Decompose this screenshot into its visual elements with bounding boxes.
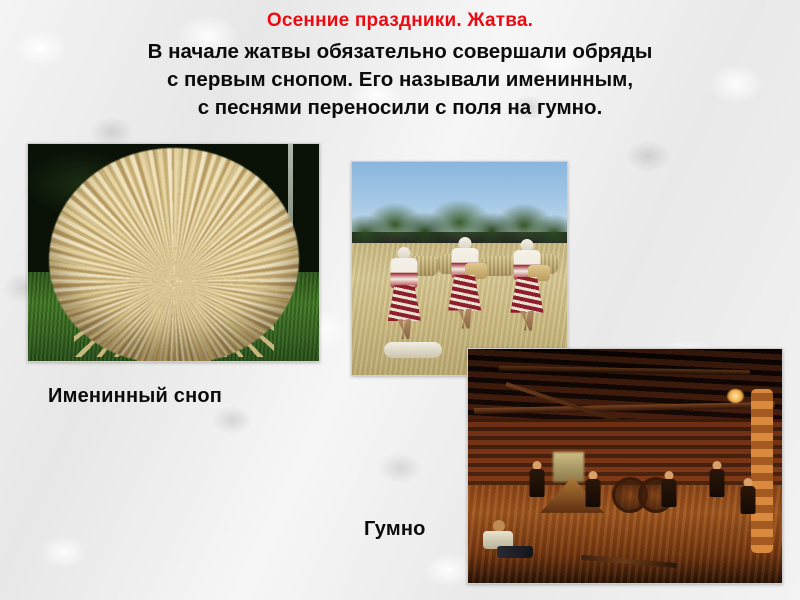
body: [529, 469, 544, 497]
peasant-figure: [707, 461, 727, 513]
threshing-barn-scene: [468, 349, 782, 583]
threshing-barn-painting: [467, 348, 783, 584]
body: [586, 479, 601, 507]
foreground-sheaf: [384, 342, 442, 358]
slide-title: Осенние праздники. Жатва.: [0, 0, 800, 33]
wheat-sheaf-photo: [27, 143, 320, 362]
body-line-2: с первым снопом. Его называли именинным,: [0, 66, 800, 94]
body: [741, 486, 756, 514]
wheat-sheaf-scene: [28, 144, 319, 361]
slide-text-block: Осенние праздники. Жатва. В начале жатвы…: [0, 0, 800, 122]
doorway-light: [553, 452, 584, 482]
folk-dancer-figure: [509, 239, 545, 337]
legs: [397, 319, 411, 339]
folk-skirt: [510, 277, 543, 313]
folk-dancer-figure: [386, 247, 422, 342]
harvest-field-scene: [352, 162, 567, 375]
peasant-figure: [660, 471, 678, 511]
body: [709, 469, 724, 497]
outstretched-legs: [497, 546, 533, 558]
peasant-figure: [738, 478, 758, 526]
slide-body-text: В начале жатвы обязательно совершали обр…: [0, 33, 800, 122]
lamp-glow: [727, 389, 744, 403]
legs: [520, 311, 534, 331]
harvest-field-photo: [351, 161, 568, 376]
folk-skirt: [448, 275, 481, 311]
body-line-3: с песнями переносили с поля на гумно.: [0, 94, 800, 122]
folk-dancer-figure: [447, 237, 483, 335]
caption-imeninnyy-snop: Именинный сноп: [48, 385, 222, 408]
peasant-figure: [528, 461, 546, 505]
lit-corner-logs: [751, 389, 773, 553]
peasant-figure: [584, 471, 602, 511]
presentation-slide: Осенние праздники. Жатва. В начале жатвы…: [0, 0, 800, 600]
seated-peasant: [481, 520, 533, 560]
body: [661, 479, 676, 507]
body-line-1: В начале жатвы обязательно совершали обр…: [0, 38, 800, 66]
head: [493, 520, 505, 532]
embroidered-blouse: [391, 258, 418, 288]
legs: [458, 309, 472, 329]
caption-gumno: Гумно: [364, 518, 426, 541]
folk-skirt: [388, 285, 421, 321]
sheaf-wheat-ears: [49, 148, 299, 362]
